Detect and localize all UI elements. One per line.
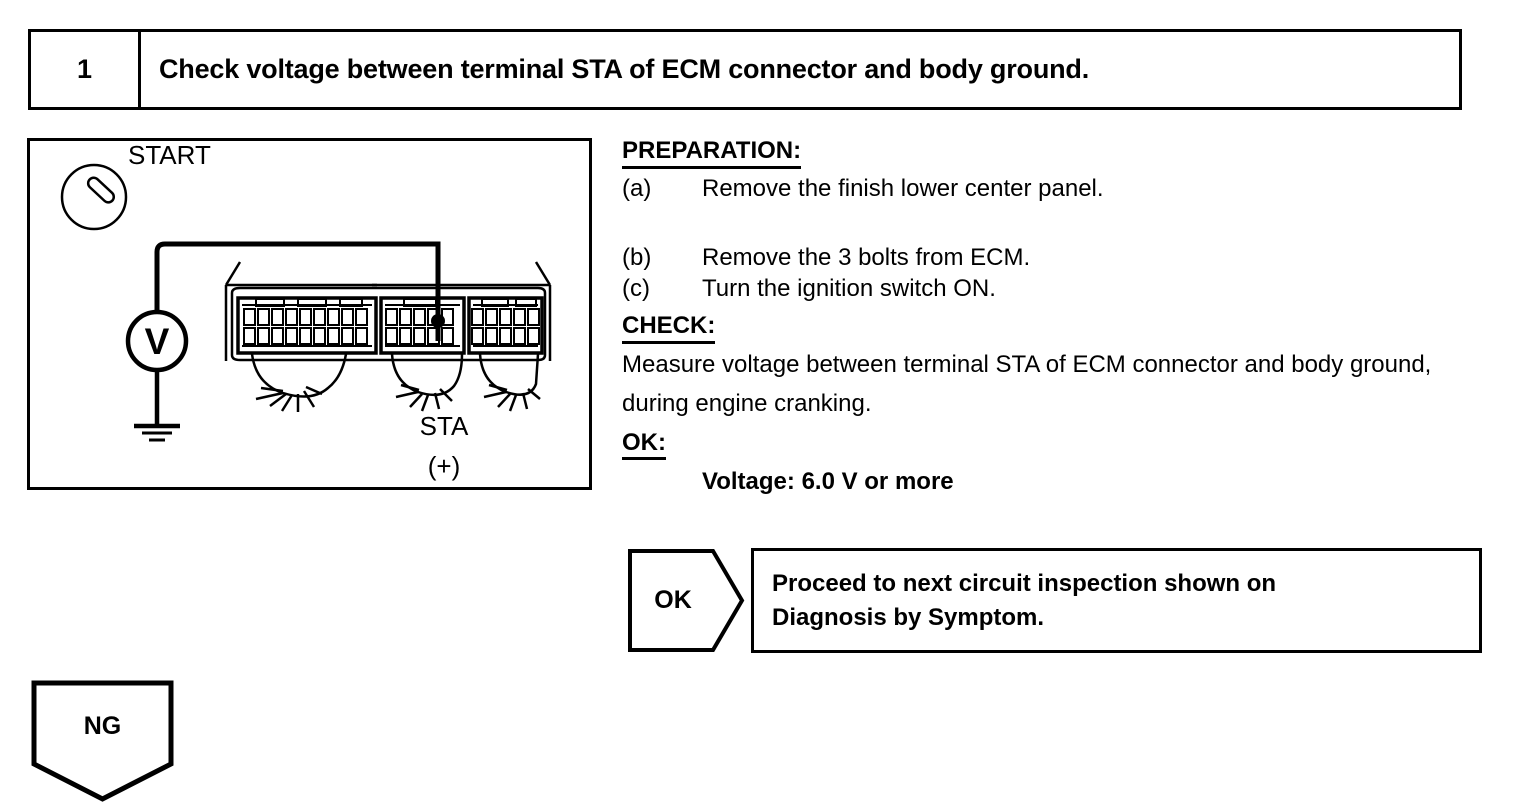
voltmeter-icon: V <box>128 312 186 370</box>
voltmeter-label: V <box>145 321 170 362</box>
ok-spec-heading: OK: <box>622 430 666 461</box>
instruction-content: PREPARATION: (a) Remove the finish lower… <box>622 138 1482 497</box>
ecm-connector-icon <box>226 262 550 412</box>
ok-result-row: OK Proceed to next circuit inspection sh… <box>627 548 1482 653</box>
preparation-text-c: Turn the ignition switch ON. <box>702 273 1482 305</box>
wiring-diagram-panel: V <box>27 138 592 490</box>
preparation-marker-b: (b) <box>622 242 702 274</box>
preparation-section: PREPARATION: (a) Remove the finish lower… <box>622 138 1482 305</box>
ng-result-badge: NG <box>31 680 174 802</box>
preparation-text-a: Remove the finish lower center panel. <box>702 173 1482 205</box>
preparation-heading: PREPARATION: <box>622 138 801 169</box>
sta-pin-contact-point <box>431 314 445 328</box>
preparation-marker-c: (c) <box>622 273 702 305</box>
sta-terminal-label: STA <box>420 411 469 441</box>
step-number-cell: 1 <box>31 32 141 107</box>
check-section: CHECK: Measure voltage between terminal … <box>622 313 1482 424</box>
preparation-marker-a: (a) <box>622 173 702 205</box>
ng-badge-label: NG <box>31 680 174 772</box>
ok-result-text: Proceed to next circuit inspection shown… <box>772 567 1276 633</box>
preparation-item-c: (c) Turn the ignition switch ON. <box>622 273 1482 305</box>
preparation-list: (a) Remove the finish lower center panel… <box>622 173 1482 305</box>
sta-polarity-label: (+) <box>428 451 461 481</box>
ok-spec-value: Voltage: 6.0 V or more <box>622 468 1482 497</box>
ok-result-box: Proceed to next circuit inspection shown… <box>751 548 1482 653</box>
ok-spec-section: OK: Voltage: 6.0 V or more <box>622 430 1482 498</box>
connector-block-a <box>238 298 376 353</box>
ignition-start-label: START <box>128 141 211 170</box>
ok-badge-label: OK <box>627 548 719 653</box>
connector-block-c <box>469 298 542 353</box>
step-title: Check voltage between terminal STA of EC… <box>159 55 1089 85</box>
check-heading: CHECK: <box>622 313 715 344</box>
preparation-text-b: Remove the 3 bolts from ECM. <box>702 242 1482 274</box>
wiring-diagram-svg: V <box>30 141 589 487</box>
step-number: 1 <box>77 56 92 83</box>
step-title-cell: Check voltage between terminal STA of EC… <box>141 32 1459 107</box>
step-header: 1 Check voltage between terminal STA of … <box>28 29 1462 110</box>
positive-probe-lead <box>157 244 438 341</box>
preparation-item-b: (b) Remove the 3 bolts from ECM. <box>622 242 1482 274</box>
ok-result-text-line1: Proceed to next circuit inspection shown… <box>772 567 1276 600</box>
ignition-key-switch-icon <box>62 165 126 229</box>
connector-block-b <box>381 298 464 353</box>
wire-harness-bundles <box>252 354 540 412</box>
preparation-item-a: (a) Remove the finish lower center panel… <box>622 173 1482 205</box>
body-ground-icon <box>134 370 180 440</box>
check-body: Measure voltage between terminal STA of … <box>622 346 1472 424</box>
ok-result-text-line2: Diagnosis by Symptom. <box>772 601 1276 634</box>
